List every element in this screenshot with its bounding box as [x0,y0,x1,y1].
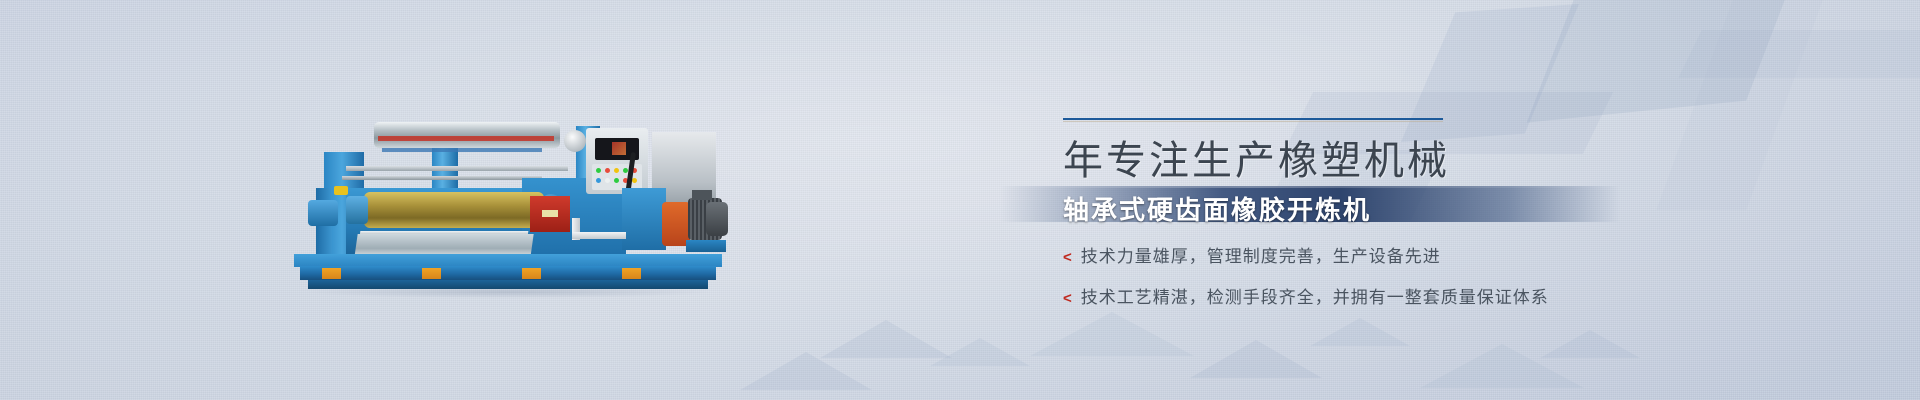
machine-support-bar-upper [346,166,568,171]
decor-triangle-1 [820,320,952,358]
machine-motor-tail [706,202,728,236]
machine-left-hub [308,200,338,226]
control-button-yellow-2 [632,178,637,183]
control-button-yellow [614,168,619,173]
machine-base-block-1 [322,268,341,279]
control-button-green-3 [614,178,619,183]
machine-base-block-4 [622,268,641,279]
decor-triangle-6 [1420,344,1584,388]
feature-bullet-item: < 技术工艺精湛，检测手段齐全，并拥有一整套质量保证体系 [1063,283,1823,308]
feature-bullet-text: 技术工艺精湛，检测手段齐全，并拥有一整套质量保证体系 [1081,283,1549,308]
decor-triangle-8 [1540,330,1640,358]
machine-pipe-horizontal [572,232,626,239]
machine-base-block-2 [422,268,441,279]
chevron-left-icon: < [1063,250,1072,265]
control-button-red [605,168,610,173]
machine-main-roller [364,192,544,228]
title-divider-line-accent [1063,121,1443,122]
product-machine-image [286,92,731,298]
machine-control-buttons [592,164,642,190]
feature-bullet-item: < 技术力量雄厚，管理制度完善，生产设备先进 [1063,242,1823,267]
headline-subtitle: 轴承式硬齿面橡胶开炼机 [1063,190,1371,227]
decor-triangle-2 [930,338,1030,366]
machine-base-block-3 [522,268,541,279]
title-divider-line [1063,118,1443,120]
subtitle-banner-highlight [1000,186,1620,188]
headline-title: 年专注生产橡塑机械 [1063,128,1450,186]
feature-bullet-list: < 技术力量雄厚，管理制度完善，生产设备先进 < 技术工艺精湛，检测手段齐全，并… [1063,242,1823,324]
machine-top-roller-band-blue [382,148,542,152]
machine-base-skirt [308,280,708,289]
decor-triangle-4 [1190,340,1322,378]
machine-support-bar-lower [342,176,542,180]
chevron-left-icon: < [1063,291,1072,306]
machine-motor-mount [686,240,726,252]
machine-gearbox [622,188,666,250]
control-button-green [596,168,601,173]
machine-base-plate [300,266,716,280]
decor-triangle-7 [740,352,872,390]
machine-illustration [286,92,731,298]
decor-polygon-6 [1656,0,1833,210]
machine-handwheel [564,130,586,152]
machine-motor-terminal-box [692,190,712,200]
control-button-blue [596,178,601,183]
feature-bullet-text: 技术力量雄厚，管理制度完善，生产设备先进 [1081,242,1441,267]
control-button-white [605,178,610,183]
machine-control-screen-readout [612,142,626,155]
decor-polygon-5 [1678,30,1920,78]
promo-banner: 年专注生产橡塑机械 轴承式硬齿面橡胶开炼机 < 技术力量雄厚，管理制度完善，生产… [0,0,1920,400]
machine-top-roller-band-red [378,136,554,141]
machine-emergency-switch [334,186,348,195]
machine-roller-cap-left [346,196,368,224]
decor-polygon-1 [1527,0,1804,123]
machine-top-roller [374,122,560,148]
machine-junction-box-label [542,210,558,217]
